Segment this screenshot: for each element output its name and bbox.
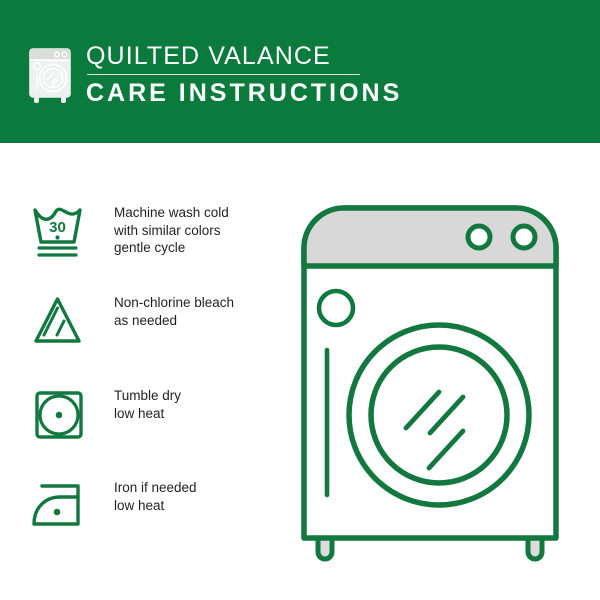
iron-low-heat-icon (30, 477, 96, 539)
care-instruction-label: Tumble dry low heat (114, 385, 181, 422)
washing-machine-icon (26, 47, 74, 105)
page-title: QUILTED VALANCE (86, 42, 516, 70)
iron-dot-icon (54, 509, 61, 516)
care-instruction-row-tumble-dry: Tumble dry low heat (30, 385, 280, 447)
care-label-line: Tumble dry (114, 387, 181, 405)
care-instruction-row-machine-wash: 30 Machine wash cold with similar colors… (30, 202, 280, 264)
header-title-group: QUILTED VALANCE CARE INSTRUCTIONS (86, 42, 516, 108)
care-instruction-row-iron: Iron if needed low heat (30, 477, 280, 539)
non-chlorine-bleach-icon (30, 292, 96, 354)
washer-knob-2 (513, 226, 535, 248)
care-instruction-label: Non-chlorine bleach as needed (114, 292, 234, 329)
care-instruction-label: Machine wash cold with similar colors ge… (114, 202, 229, 257)
tumble-dry-low-icon (30, 385, 96, 447)
wash-dot-icon (55, 235, 59, 239)
care-label-line: Iron if needed (114, 479, 197, 497)
care-label-line: as needed (114, 312, 234, 330)
care-label-line: low heat (114, 497, 197, 515)
washer-knob-1 (468, 226, 490, 248)
care-instructions-card: QUILTED VALANCE CARE INSTRUCTIONS 30 Mac… (0, 0, 600, 600)
wash-temperature-value: 30 (49, 219, 66, 236)
title-divider (87, 74, 360, 75)
washer-leg-right (528, 538, 542, 559)
care-label-line: low heat (114, 405, 181, 423)
care-instruction-row-bleach: Non-chlorine bleach as needed (30, 292, 280, 354)
care-label-line: with similar colors (114, 222, 229, 240)
tumble-dry-dot-icon (56, 412, 63, 419)
washer-leg-left (318, 538, 332, 559)
machine-wash-icon: 30 (30, 202, 96, 264)
care-instruction-label: Iron if needed low heat (114, 477, 197, 514)
front-load-washing-machine-illustration (296, 200, 564, 565)
care-label-line: Non-chlorine bleach (114, 294, 234, 312)
care-label-line: Machine wash cold (114, 204, 229, 222)
page-subtitle: CARE INSTRUCTIONS (86, 78, 516, 108)
care-label-line: gentle cycle (114, 239, 229, 257)
